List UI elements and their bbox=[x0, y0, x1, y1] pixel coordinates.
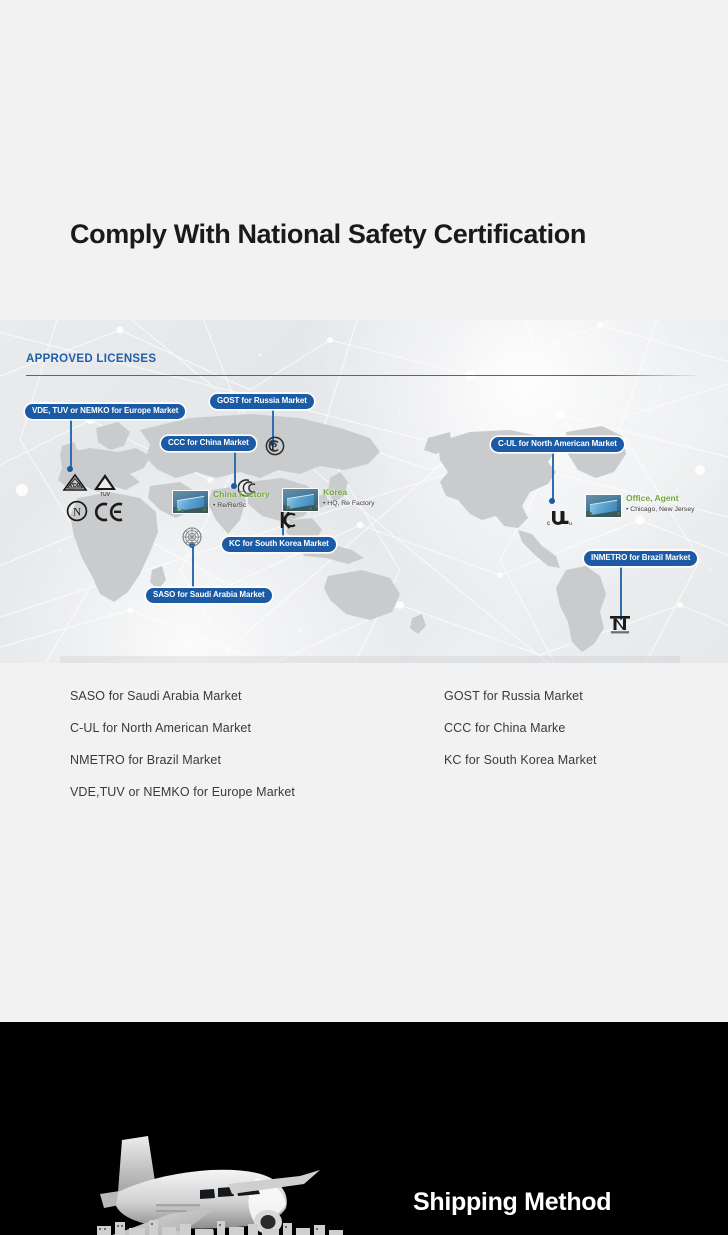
pill-north-america[interactable]: C-UL for North American Market bbox=[491, 437, 624, 452]
tuv-icon: TUV bbox=[92, 472, 118, 498]
ul-icon: c us bbox=[544, 508, 572, 528]
leader-saudi-arabia bbox=[192, 546, 194, 590]
cert-list-item: KC for South Korea Market bbox=[444, 753, 597, 767]
shipping-method-title: Shipping Method bbox=[413, 1188, 611, 1217]
nemko-icon: N bbox=[66, 500, 88, 522]
office-agent-sub: • Chicago, New Jersey bbox=[626, 506, 695, 514]
pill-brazil[interactable]: INMETRO for Brazil Market bbox=[584, 551, 697, 566]
korea-sub: • HQ, Re Factory bbox=[323, 500, 375, 508]
kc-icon bbox=[279, 510, 297, 530]
cert-list-item: NMETRO for Brazil Market bbox=[70, 753, 295, 767]
pill-south-korea[interactable]: KC for South Korea Market bbox=[222, 537, 336, 552]
office-agent-title: Office, Agent bbox=[626, 494, 695, 504]
svg-text:c: c bbox=[547, 521, 550, 527]
leader-brazil bbox=[620, 564, 622, 620]
leader-europe bbox=[70, 417, 72, 470]
cert-list-item: SASO for Saudi Arabia Market bbox=[70, 689, 295, 703]
leader-north-america bbox=[552, 450, 554, 502]
pill-europe[interactable]: VDE, TUV or NEMKO for Europe Market bbox=[25, 404, 185, 419]
office-agent-thumbnail bbox=[585, 494, 622, 518]
korea-thumbnail bbox=[282, 488, 319, 512]
callout-korea: Korea • HQ, Re Factory bbox=[282, 488, 375, 512]
leader-china bbox=[234, 449, 236, 487]
city-skyline-icon bbox=[95, 1218, 345, 1235]
pill-china[interactable]: CCC for China Market bbox=[161, 436, 256, 451]
svg-text:us: us bbox=[569, 521, 572, 527]
gost-icon: P bbox=[265, 436, 285, 456]
dot-north-america bbox=[549, 498, 555, 504]
china-factory-title: China Factory bbox=[213, 490, 270, 500]
svg-text:TUV: TUV bbox=[100, 492, 111, 498]
section-divider bbox=[26, 375, 702, 376]
page-title: Comply With National Safety Certificatio… bbox=[70, 219, 586, 250]
shipping-method-section: Shipping Method bbox=[0, 1022, 728, 1235]
china-factory-thumbnail bbox=[172, 490, 209, 514]
svg-text:N: N bbox=[73, 507, 82, 519]
saso-icon bbox=[182, 527, 202, 547]
approved-licenses-label: APPROVED LICENSES bbox=[26, 353, 156, 365]
svg-text:VDE: VDE bbox=[69, 483, 81, 489]
heading-block: Comply With National Safety Certificatio… bbox=[0, 0, 728, 320]
cert-list-right-column: GOST for Russia Market CCC for China Mar… bbox=[444, 689, 597, 785]
callout-office-agent: Office, Agent • Chicago, New Jersey bbox=[585, 494, 695, 518]
certification-list-section: SASO for Saudi Arabia Market C-UL for No… bbox=[0, 663, 728, 1022]
korea-title: Korea bbox=[323, 488, 375, 498]
callout-china-factory: China Factory • Re/Re/Sc bbox=[172, 490, 270, 514]
china-factory-sub: • Re/Re/Sc bbox=[213, 502, 270, 510]
pill-russia[interactable]: GOST for Russia Market bbox=[210, 394, 314, 409]
cert-list-item: VDE,TUV or NEMKO for Europe Market bbox=[70, 785, 295, 799]
cert-list-item: GOST for Russia Market bbox=[444, 689, 597, 703]
vde-icon: VDE bbox=[62, 473, 88, 493]
cert-list-item: C-UL for North American Market bbox=[70, 721, 295, 735]
cert-list-item: CCC for China Marke bbox=[444, 721, 597, 735]
inmetro-icon bbox=[608, 614, 632, 636]
dot-europe bbox=[67, 466, 73, 472]
dot-brazil bbox=[617, 560, 623, 566]
pill-saudi-arabia[interactable]: SASO for Saudi Arabia Market bbox=[146, 588, 272, 603]
cert-list-left-column: SASO for Saudi Arabia Market C-UL for No… bbox=[70, 689, 295, 817]
ce-icon bbox=[94, 502, 124, 522]
marketing-page: Comply With National Safety Certificatio… bbox=[0, 0, 728, 1235]
